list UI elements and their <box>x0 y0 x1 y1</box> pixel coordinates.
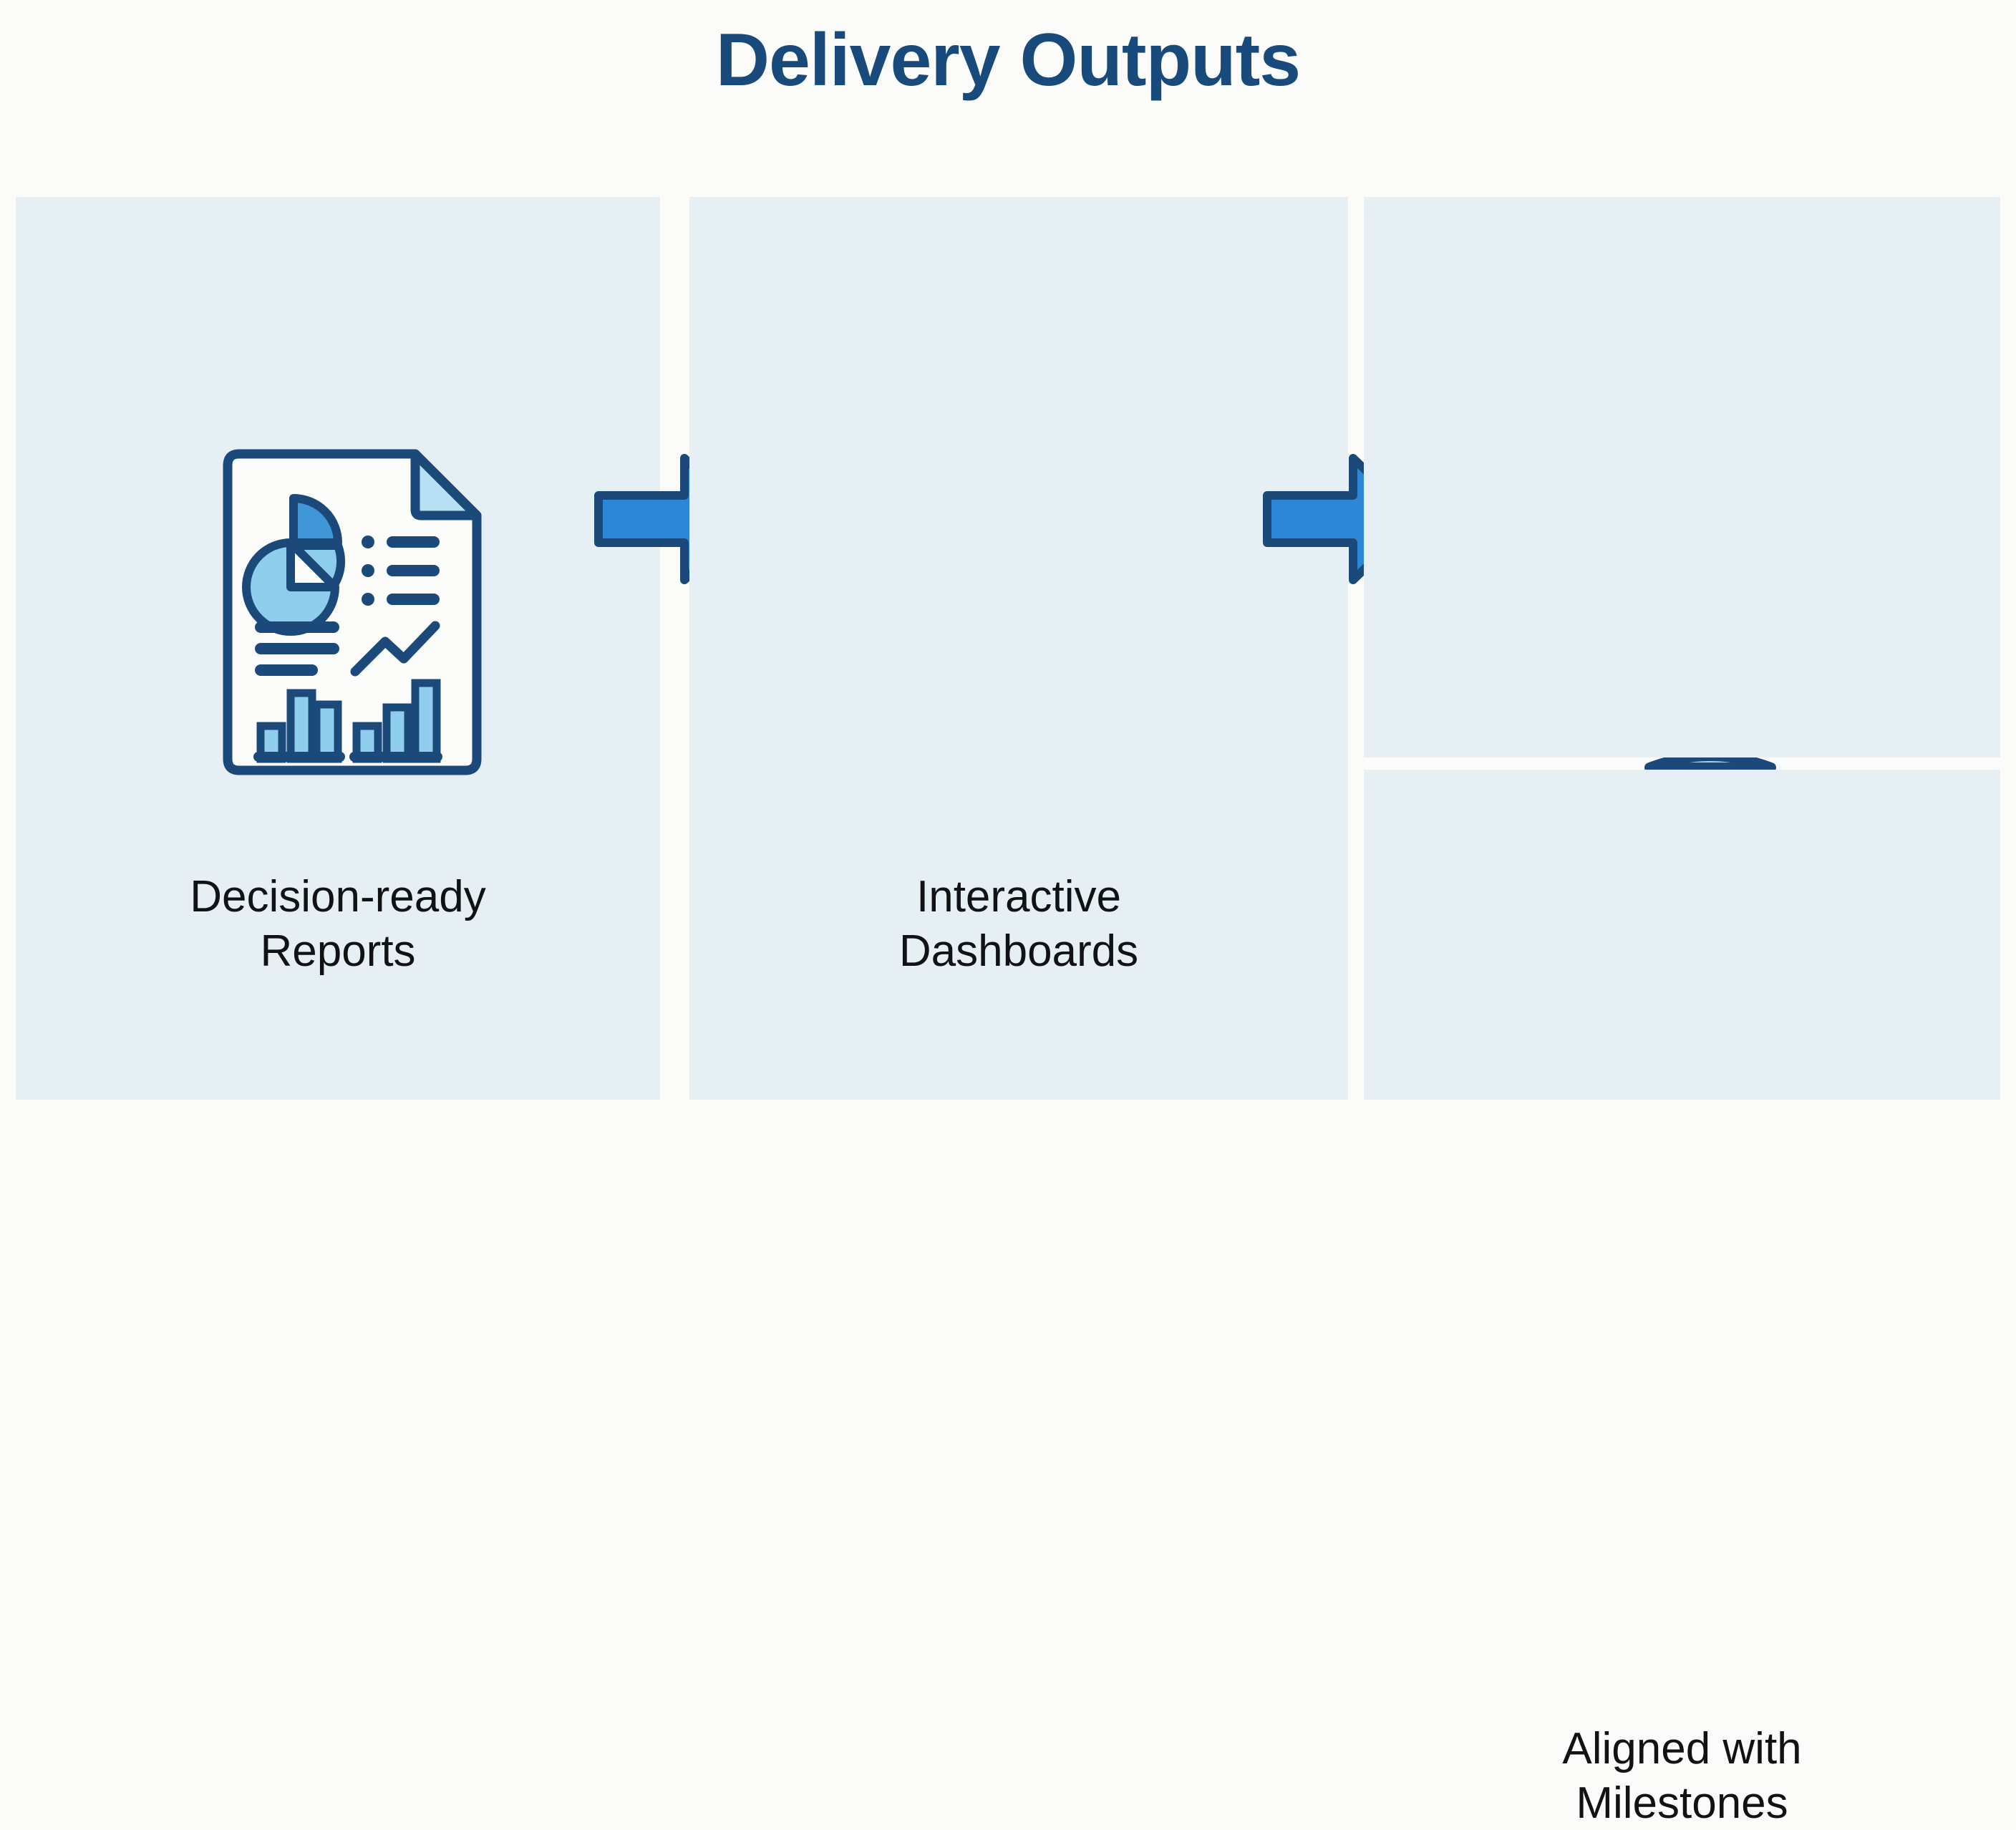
panel-decision-ready-reports[interactable]: Decision-ready Reports <box>16 197 660 1100</box>
label-line-1: Decision-ready <box>16 870 660 924</box>
panel-label-interactive-dashboards: Interactive Dashboards <box>689 870 1348 978</box>
label-line-1: Interactive <box>689 870 1348 924</box>
panel-label-aligned-with-milestones: Aligned with Milestones <box>1364 1722 2000 1830</box>
label-line-2: Reports <box>16 924 660 979</box>
panel-data-backed-recommendations[interactable]: Data-backed Recommendations <box>1364 197 2000 757</box>
panel-aligned-with-milestones[interactable]: Aligned with Milestones <box>1364 770 2000 1100</box>
document-report-icon <box>216 444 488 780</box>
panel-label-decision-ready-reports: Decision-ready Reports <box>16 870 660 978</box>
label-line-2: Milestones <box>1364 1776 2000 1830</box>
label-line-1: Aligned with <box>1364 1722 2000 1776</box>
page-title: Delivery Outputs <box>0 21 2016 100</box>
label-line-2: Dashboards <box>689 924 1348 979</box>
slide-canvas: Delivery Outputs <box>0 0 2016 1100</box>
panel-interactive-dashboards[interactable]: Interactive Dashboards <box>689 197 1348 1100</box>
